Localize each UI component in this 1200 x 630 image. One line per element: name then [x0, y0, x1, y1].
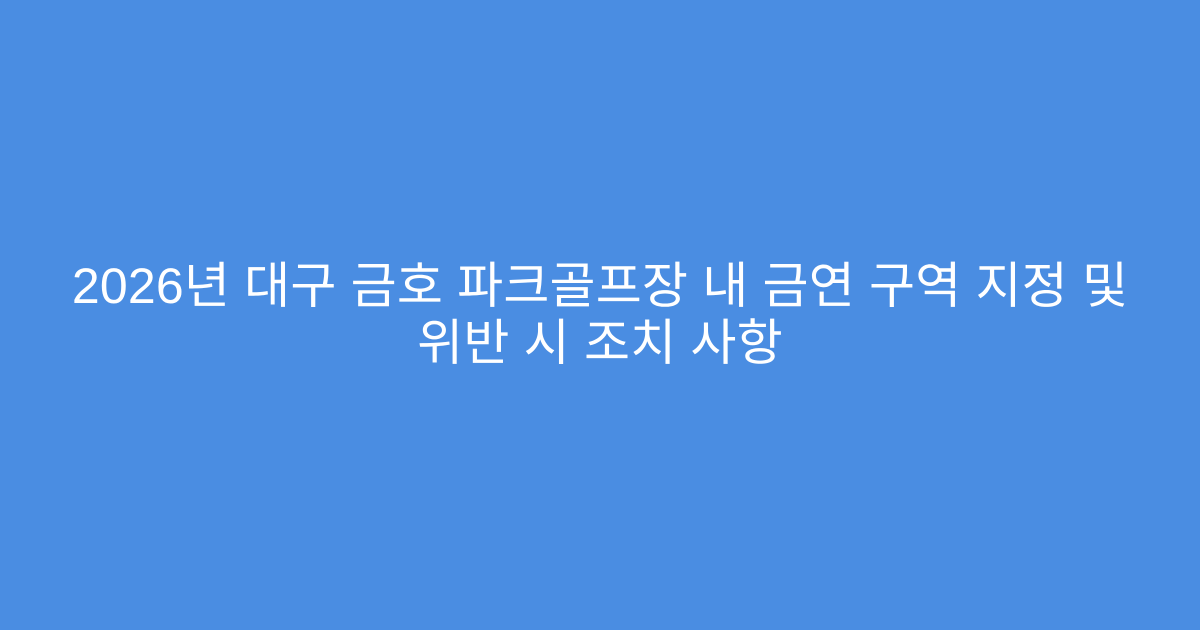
- share-card: 2026년 대구 금호 파크골프장 내 금연 구역 지정 및 위반 시 조치 사…: [0, 0, 1200, 630]
- page-title: 2026년 대구 금호 파크골프장 내 금연 구역 지정 및 위반 시 조치 사…: [55, 258, 1145, 372]
- title-block: 2026년 대구 금호 파크골프장 내 금연 구역 지정 및 위반 시 조치 사…: [55, 258, 1145, 372]
